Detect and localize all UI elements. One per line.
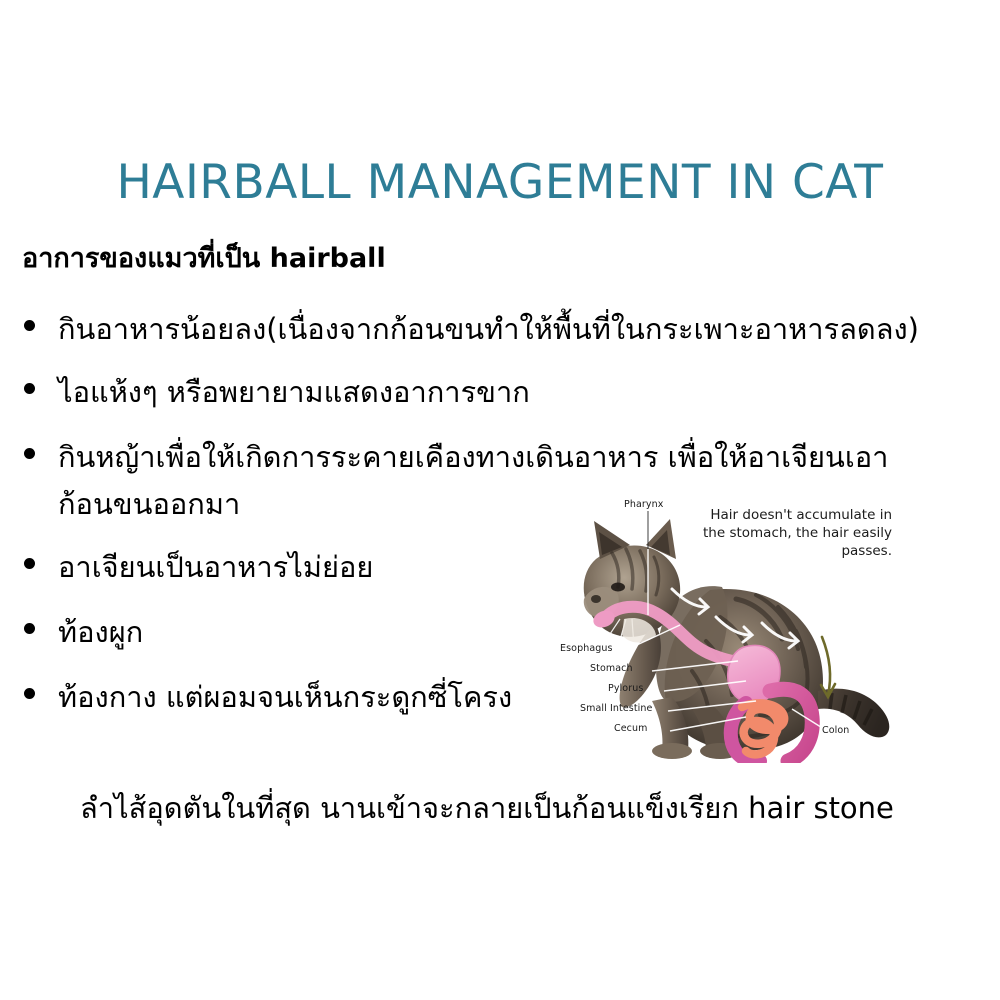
bullet-dot-icon bbox=[24, 623, 35, 634]
anatomy-label-cecum: Cecum bbox=[614, 723, 647, 734]
closing-statement: ลำไส้อุดตันในที่สุด นานเข้าจะกลายเป็นก้อ… bbox=[80, 790, 894, 828]
anatomy-label-esophagus: Esophagus bbox=[560, 643, 613, 654]
list-item: ไอแห้งๆ หรือพยายามแสดงอาการขาก bbox=[18, 369, 978, 416]
list-item-label: กินอาหารน้อยลง(เนื่องจากก้อนขนทำให้พื้นท… bbox=[58, 306, 978, 353]
slide-canvas: HAIRBALL MANAGEMENT IN CAT อาการของแมวที… bbox=[0, 0, 1000, 1000]
cat-anatomy-illustration bbox=[560, 495, 900, 763]
list-item-label: กินหญ้าเพื่อให้เกิดการระคายเคืองทางเดินอ… bbox=[58, 434, 978, 481]
list-item-label: ไอแห้งๆ หรือพยายามแสดงอาการขาก bbox=[58, 369, 978, 416]
anatomy-label-colon: Colon bbox=[822, 725, 849, 736]
anatomy-label-pharynx: Pharynx bbox=[624, 499, 663, 510]
bullet-dot-icon bbox=[24, 558, 35, 569]
anatomy-label-stomach: Stomach bbox=[590, 663, 633, 674]
list-item: กินอาหารน้อยลง(เนื่องจากก้อนขนทำให้พื้นท… bbox=[18, 306, 978, 353]
cat-anatomy-figure: Hair doesn't accumulate in the stomach, … bbox=[560, 495, 900, 763]
bullet-dot-icon bbox=[24, 688, 35, 699]
section-heading: อาการของแมวที่เป็น hairball bbox=[22, 243, 386, 275]
bullet-dot-icon bbox=[24, 383, 35, 394]
anatomy-label-pylorus: Pylorus bbox=[608, 683, 643, 694]
anatomy-label-small-intestine: Small Intestine bbox=[580, 703, 652, 714]
page-title: HAIRBALL MANAGEMENT IN CAT bbox=[0, 158, 1000, 207]
bullet-dot-icon bbox=[24, 320, 35, 331]
bullet-dot-icon bbox=[24, 448, 35, 459]
